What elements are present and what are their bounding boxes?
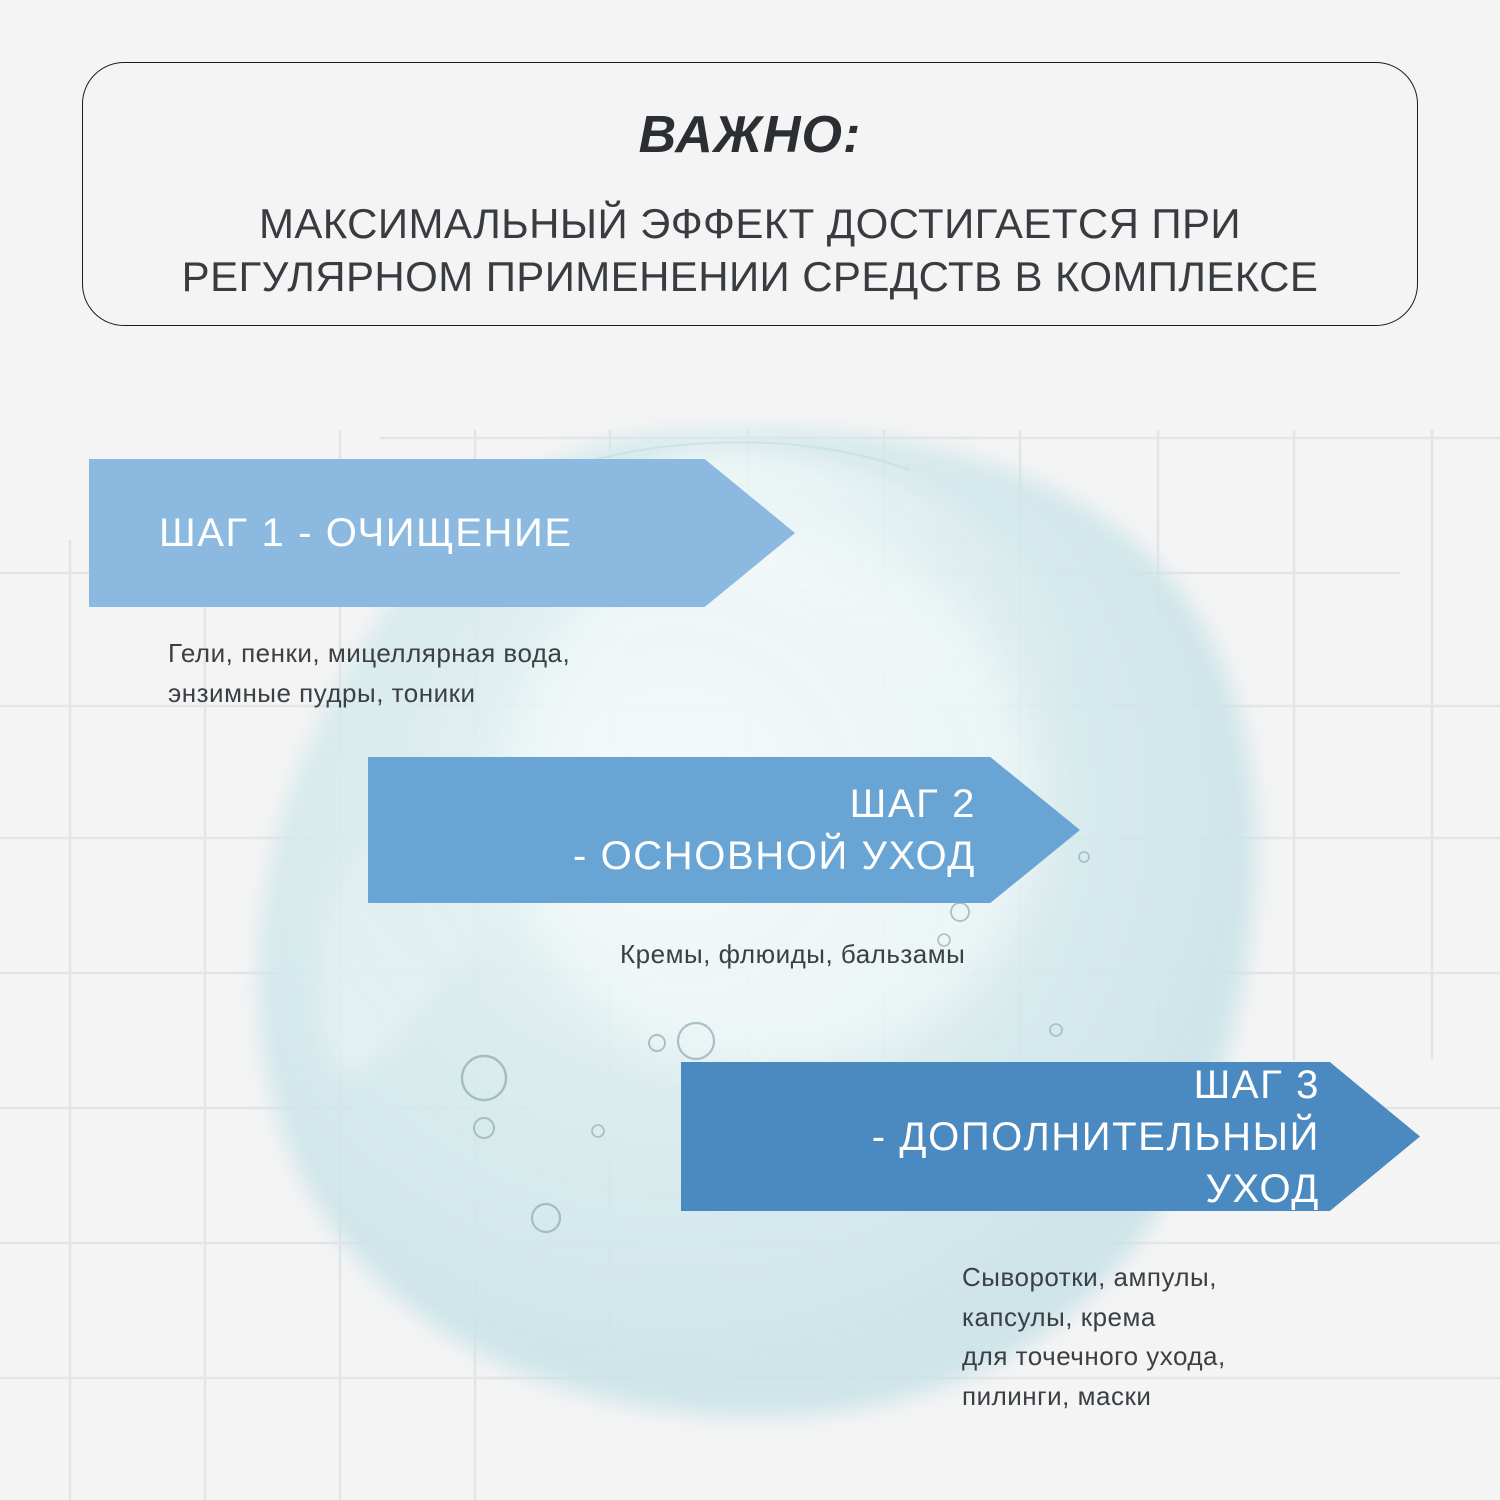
subtitle-line-1: МАКСИМАЛЬНЫЙ ЭФФЕКТ ДОСТИГАЕТСЯ ПРИ xyxy=(120,198,1380,251)
step-3-arrow: ШАГ 3 - ДОПОЛНИТЕЛЬНЫЙ УХОД xyxy=(681,1062,1420,1211)
important-callout-box: ВАЖНО: МАКСИМАЛЬНЫЙ ЭФФЕКТ ДОСТИГАЕТСЯ П… xyxy=(82,62,1418,326)
step-1-label: ШАГ 1 - ОЧИЩЕНИЕ xyxy=(89,507,795,559)
step-1-caption: Гели, пенки, мицеллярная вода, энзимные … xyxy=(168,634,570,713)
step-3-label-line-3: УХОД xyxy=(681,1163,1320,1215)
infographic-canvas: ВАЖНО: МАКСИМАЛЬНЫЙ ЭФФЕКТ ДОСТИГАЕТСЯ П… xyxy=(0,0,1500,1500)
step-2-label: ШАГ 2 - ОСНОВНОЙ УХОД xyxy=(368,778,1080,882)
step-3-label: ШАГ 3 - ДОПОЛНИТЕЛЬНЫЙ УХОД xyxy=(681,1059,1420,1215)
step-1-caption-line-1: Гели, пенки, мицеллярная вода, xyxy=(168,634,570,674)
step-2-arrow: ШАГ 2 - ОСНОВНОЙ УХОД xyxy=(368,757,1080,903)
step-1-caption-line-2: энзимные пудры, тоники xyxy=(168,674,570,714)
step-2-caption-line-1: Кремы, флюиды, бальзамы xyxy=(620,935,965,975)
step-3-caption-line-3: для точечного ухода, xyxy=(962,1337,1226,1377)
step-3-label-line-1: ШАГ 3 xyxy=(681,1059,1320,1111)
subtitle-line-2: РЕГУЛЯРНОМ ПРИМЕНЕНИИ СРЕДСТВ В КОМПЛЕКС… xyxy=(120,251,1380,304)
step-3-caption: Сыворотки, ампулы, капсулы, крема для то… xyxy=(962,1258,1226,1416)
step-3-caption-line-4: пилинги, маски xyxy=(962,1377,1226,1417)
step-3-caption-line-1: Сыворотки, ампулы, xyxy=(962,1258,1226,1298)
page-subtitle: МАКСИМАЛЬНЫЙ ЭФФЕКТ ДОСТИГАЕТСЯ ПРИ РЕГУ… xyxy=(120,198,1380,303)
step-2-label-line-1: ШАГ 2 xyxy=(368,778,976,830)
step-3-label-line-2: - ДОПОЛНИТЕЛЬНЫЙ xyxy=(681,1111,1320,1163)
step-1-label-line-1: ШАГ 1 - ОЧИЩЕНИЕ xyxy=(159,507,795,559)
step-1-arrow: ШАГ 1 - ОЧИЩЕНИЕ xyxy=(89,459,795,607)
step-2-caption: Кремы, флюиды, бальзамы xyxy=(620,935,965,975)
page-title: ВАЖНО: xyxy=(639,107,862,164)
step-3-caption-line-2: капсулы, крема xyxy=(962,1298,1226,1338)
step-2-label-line-2: - ОСНОВНОЙ УХОД xyxy=(368,830,976,882)
